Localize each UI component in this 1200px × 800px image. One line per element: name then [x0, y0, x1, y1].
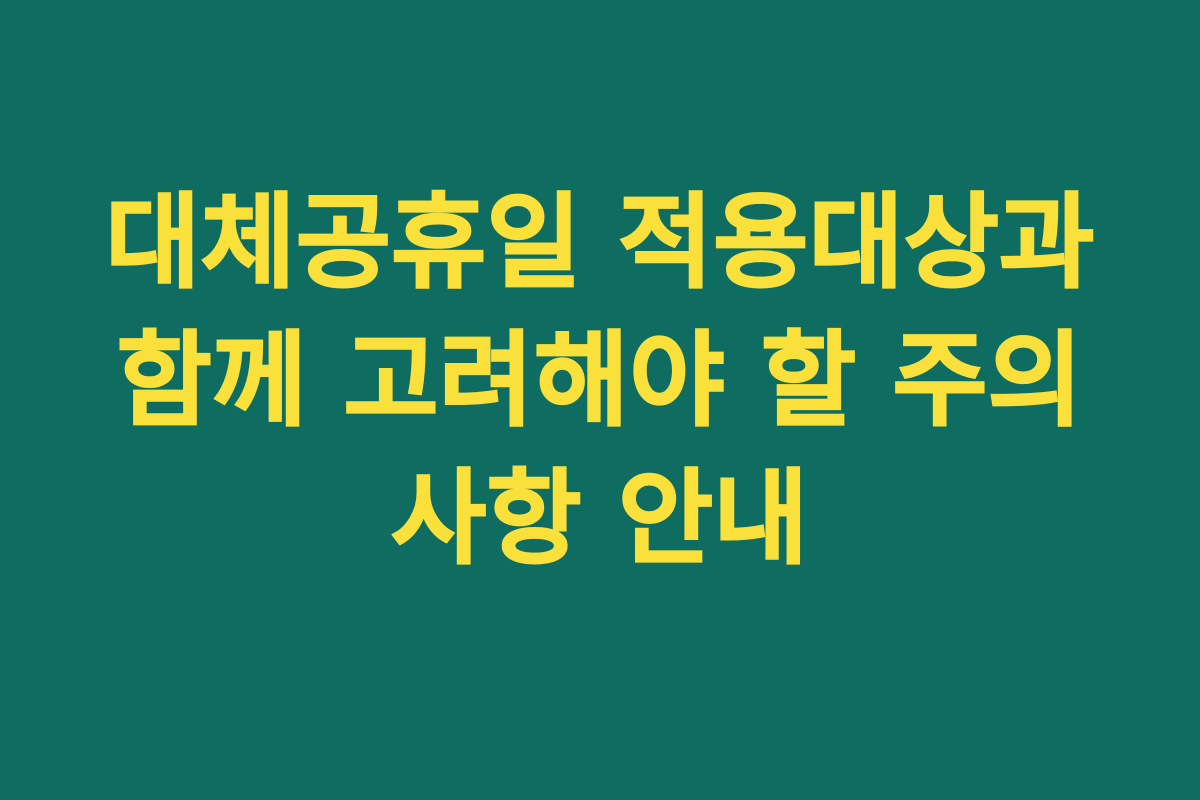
headline-block: 대체공휴일 적용대상과 함께 고려해야 할 주의 사항 안내: [50, 174, 1150, 588]
headline-line-3: 사항 안내: [391, 450, 808, 588]
headline-line-2: 함께 고려해야 할 주의: [117, 312, 1083, 450]
banner-background: 대체공휴일 적용대상과 함께 고려해야 할 주의 사항 안내: [0, 0, 1200, 800]
headline-line-1: 대체공휴일 적용대상과: [106, 174, 1095, 312]
